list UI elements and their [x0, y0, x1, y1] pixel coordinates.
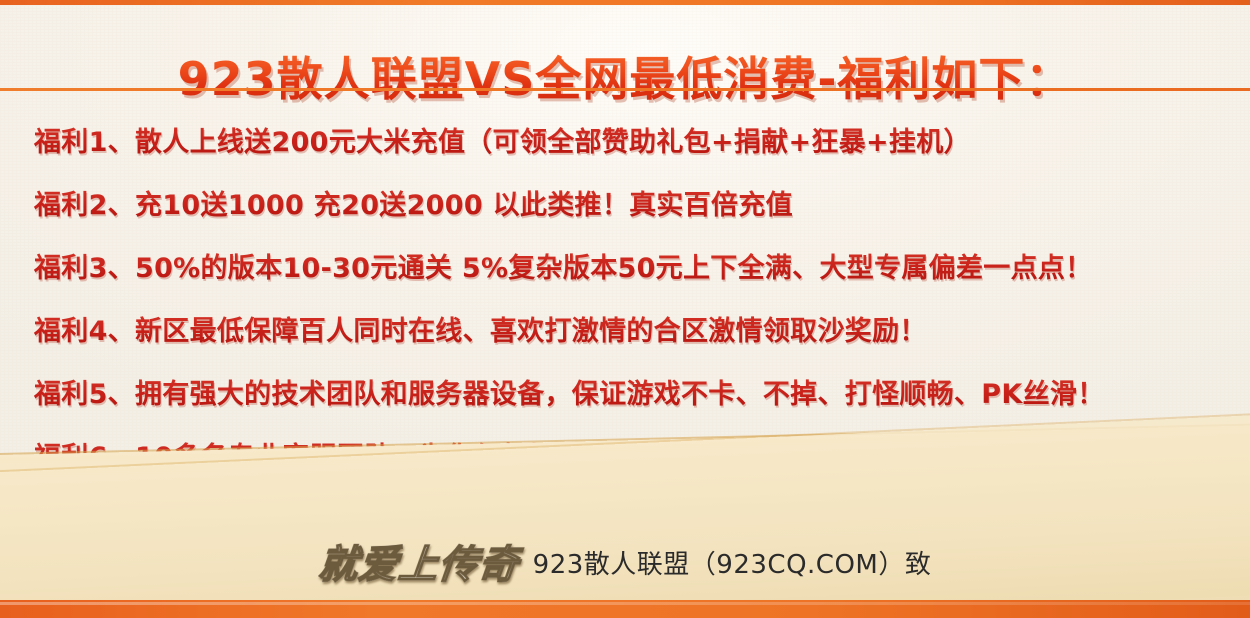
brand-logo: 就爱上传奇 [316, 534, 522, 590]
benefit-text-5: 福利5、拥有强大的技术团队和服务器设备，保证游戏不卡、不掉、打怪顺畅、PK丝滑！ [34, 372, 1105, 411]
list-item: 福利1、散人上线送200元大米充值（可领全部赞助礼包+捐献+狂暴+挂机） [34, 108, 1232, 171]
title-divider-rule [0, 88, 1250, 91]
bottom-edge-highlight [0, 602, 1250, 605]
promo-poster: 923散人联盟VS全网最低消费-福利如下： 福利1、散人上线送200元大米充值（… [0, 0, 1250, 618]
footer-credit-text: 923散人联盟（923CQ.COM）致 [533, 544, 932, 581]
benefit-text-2: 福利2、充10送1000 充20送2000 以此类推！真实百倍充值 [34, 183, 793, 222]
list-item: 福利3、50%的版本10-30元通关 5%复杂版本50元上下全满、大型专属偏差一… [34, 234, 1232, 297]
page-title: 923散人联盟VS全网最低消费-福利如下： [0, 52, 1250, 106]
benefit-text-1: 福利1、散人上线送200元大米充值（可领全部赞助礼包+捐献+狂暴+挂机） [34, 120, 971, 159]
footer: 就爱上传奇 923散人联盟（923CQ.COM）致 [0, 534, 1250, 590]
list-item: 福利2、充10送1000 充20送2000 以此类推！真实百倍充值 [34, 171, 1232, 234]
top-edge-bar [0, 0, 1250, 5]
benefit-text-4: 福利4、新区最低保障百人同时在线、喜欢打激情的合区激情领取沙奖励！ [34, 309, 927, 348]
benefit-text-3: 福利3、50%的版本10-30元通关 5%复杂版本50元上下全满、大型专属偏差一… [34, 246, 1092, 285]
list-item: 福利5、拥有强大的技术团队和服务器设备，保证游戏不卡、不掉、打怪顺畅、PK丝滑！ [34, 360, 1232, 423]
list-item: 福利4、新区最低保障百人同时在线、喜欢打激情的合区激情领取沙奖励！ [34, 297, 1232, 360]
